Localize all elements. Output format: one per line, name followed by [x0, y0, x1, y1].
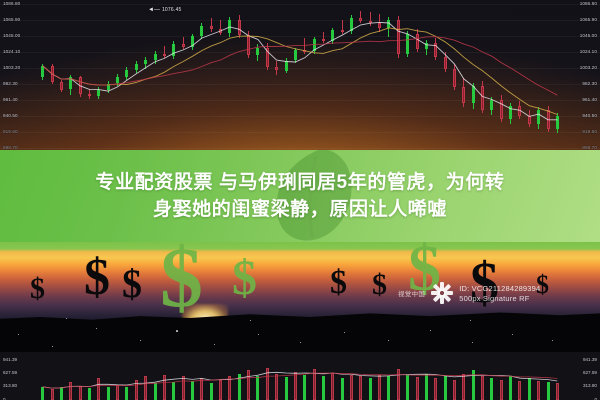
- price-tick-left: 919.60: [3, 130, 18, 135]
- sparkle-dot: [470, 320, 471, 321]
- volume-tick-left: 941.39: [3, 358, 17, 363]
- watermark-signature: 500px Signature RF: [459, 294, 540, 303]
- volume-tick-left: 627.59: [3, 371, 17, 376]
- price-plot-area: [38, 0, 562, 160]
- volume-plot-area: [38, 352, 562, 400]
- price-tick-left: 1065.90: [3, 18, 20, 23]
- dollar-sign-icon: $: [160, 242, 203, 320]
- volume-tick-right: 941.39: [583, 358, 597, 363]
- annotation-arrow-icon: ◄—: [148, 7, 160, 13]
- sparkle-dot: [512, 334, 513, 335]
- price-chart-panel: 1086.801065.901045.001024.101003.20982.3…: [0, 0, 600, 160]
- headline-line-1: 专业配资股票 与马伊琍同居5年的管虎，为何转: [95, 172, 504, 193]
- dollar-sign-icon: $: [84, 252, 110, 304]
- stock-article-thumbnail: 1086.801065.901045.001024.101003.20982.3…: [0, 0, 600, 400]
- sparkle-dot: [176, 330, 178, 332]
- price-tick-right: 1003.20: [580, 66, 597, 71]
- price-tick-right: 1045.00: [580, 34, 597, 39]
- dollar-sign-icon: $: [330, 266, 347, 300]
- price-tick-left: 1045.00: [3, 34, 20, 39]
- price-tick-left: 1024.10: [3, 50, 20, 55]
- price-tick-left: 1086.80: [3, 2, 20, 7]
- annotation-value: 1076.45: [162, 8, 181, 13]
- dollar-sign-icon: $: [122, 264, 142, 304]
- price-tick-right: 982.30: [582, 82, 597, 87]
- dollar-sign-icon: $: [232, 252, 257, 302]
- price-tick-left: 1003.20: [3, 66, 20, 71]
- watermark-text-group: ID: VCG211284289394 500px Signature RF: [459, 284, 540, 303]
- ma-line: [43, 22, 558, 119]
- headline-band: 专业配资股票 与马伊琍同居5年的管虎，为何转 身娶她的闺蜜梁静，原因让人唏嘘: [0, 150, 600, 242]
- watermark: 视觉中国 ID: VCG211284289394 500px Signature…: [398, 280, 540, 306]
- watermark-id: ID: VCG211284289394: [459, 284, 540, 293]
- dollar-sign-icon: $: [372, 270, 387, 300]
- sparkle-dot: [140, 340, 141, 341]
- volume-tick-right: 313.80: [583, 384, 597, 389]
- watermark-brand-cn: 视觉中国: [398, 288, 425, 298]
- volume-chart-panel: 941.39627.59313.800 941.39627.59313.800: [0, 352, 600, 400]
- price-tick-left: 982.30: [3, 82, 18, 87]
- headline-line-2: 身娶她的闺蜜梁静，原因让人唏嘘: [153, 199, 447, 220]
- dollar-sign-icon: $: [30, 274, 45, 304]
- ma-line: [43, 37, 558, 95]
- price-tick-right: 919.60: [582, 130, 597, 135]
- sparkle-dot: [300, 342, 301, 343]
- price-tick-right: 1024.10: [580, 50, 597, 55]
- price-annotation: ◄— 1076.45: [148, 7, 181, 13]
- price-tick-left: 940.50: [3, 114, 18, 119]
- headline-text-group: 专业配资股票 与马伊琍同居5年的管虎，为何转 身娶她的闺蜜梁静，原因让人唏嘘: [0, 150, 600, 242]
- volume-average-lines: [38, 352, 562, 400]
- sparkle-dot: [66, 318, 67, 319]
- moving-average-lines: [38, 0, 562, 160]
- price-tick-left: 961.40: [3, 98, 18, 103]
- volume-tick-right: 627.59: [583, 371, 597, 376]
- price-tick-right: 961.40: [582, 98, 597, 103]
- ma-line: [43, 28, 558, 115]
- price-tick-right: 1086.80: [580, 2, 597, 7]
- ground-silhouette: [0, 306, 600, 352]
- asterisk-burst-icon: [429, 280, 455, 306]
- volume-tick-left: 313.80: [3, 384, 17, 389]
- price-tick-right: 940.50: [582, 114, 597, 119]
- price-tick-right: 1065.90: [580, 18, 597, 23]
